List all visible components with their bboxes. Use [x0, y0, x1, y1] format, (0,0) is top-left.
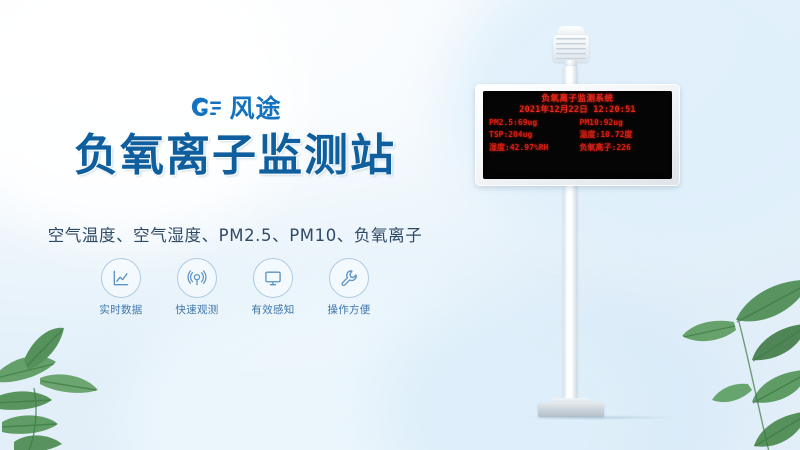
feature-list: 实时数据 快速观测 [0, 258, 470, 317]
brand-logo: 风途 [0, 90, 470, 126]
led-reading-pm10: PM10:92ug [580, 117, 667, 129]
feature-label: 操作方便 [327, 302, 370, 317]
led-display-title: 负氧离子监测系统 [489, 94, 666, 105]
led-reading-humidity: 湿度:42.97%RH [489, 142, 576, 154]
feature-item-fast-observation[interactable]: 快速观测 [169, 258, 225, 317]
wrench-icon [329, 258, 369, 298]
radar-scan-icon [177, 258, 217, 298]
led-readings-grid: PM2.5:69ug PM10:92ug TSP:204ug 温度:10.72度… [489, 117, 666, 154]
fengtu-g-wind-logo-icon [188, 95, 222, 121]
led-reading-temperature: 温度:10.72度 [580, 129, 667, 141]
feature-label: 快速观测 [175, 302, 218, 317]
led-reading-negative-oxygen-ions: 负氧离子:226 [580, 142, 667, 154]
feature-item-realtime-data[interactable]: 实时数据 [93, 258, 149, 317]
led-screen: 负氧离子监测系统 2021年12月22日 12:20:51 PM2.5:69ug… [483, 91, 672, 179]
led-reading-tsp: TSP:204ug [489, 129, 576, 141]
feature-label: 有效感知 [251, 302, 294, 317]
page-title: 负氧离子监测站 [0, 133, 470, 179]
feature-item-effective-sensing[interactable]: 有效感知 [245, 258, 301, 317]
brand-name: 风途 [229, 96, 281, 121]
plant-decoration-left [0, 314, 144, 450]
line-chart-icon [101, 258, 141, 298]
monitor-icon [253, 258, 293, 298]
led-reading-pm25: PM2.5:69ug [489, 117, 576, 129]
feature-item-easy-operation[interactable]: 操作方便 [321, 258, 377, 317]
plant-decoration-right [674, 266, 800, 450]
sensor-louver-body [553, 35, 589, 62]
poster-canvas: 风途 负氧离子监测站 空气温度、空气湿度、PM2.5、PM10、负氧离子 实时数… [0, 0, 800, 450]
led-display-datetime: 2021年12月22日 12:20:51 [489, 105, 666, 116]
hero-subtitle: 空气温度、空气湿度、PM2.5、PM10、负氧离子 [0, 222, 470, 246]
led-display-panel[interactable]: 负氧离子监测系统 2021年12月22日 12:20:51 PM2.5:69ug… [475, 84, 680, 186]
